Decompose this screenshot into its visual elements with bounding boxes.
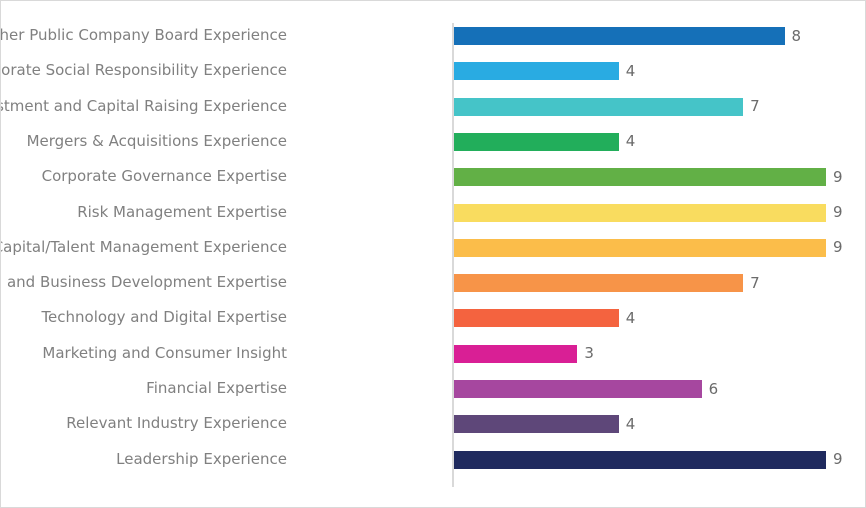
bar-value-label: 4 bbox=[626, 416, 636, 433]
bar-value-label: 4 bbox=[626, 133, 636, 150]
bar-group: 9 bbox=[453, 204, 843, 222]
bar-value-label: 7 bbox=[750, 98, 760, 115]
bar-row: Human Capital/Talent Management Experien… bbox=[1, 239, 866, 257]
plot-area: Other Public Company Board Experience8Co… bbox=[1, 1, 866, 508]
bar-value-label: 8 bbox=[792, 28, 802, 45]
category-label: Corporate Governance Expertise bbox=[0, 168, 287, 185]
category-label: Marketing and Consumer Insight bbox=[0, 345, 287, 362]
bar[interactable] bbox=[453, 133, 619, 151]
bar-row: Investment and Capital Raising Experienc… bbox=[1, 98, 866, 116]
bar[interactable] bbox=[453, 309, 619, 327]
bar-group: 7 bbox=[453, 274, 760, 292]
bar[interactable] bbox=[453, 168, 826, 186]
bar-row: Risk Management Expertise9 bbox=[1, 204, 866, 222]
bar[interactable] bbox=[453, 345, 577, 363]
category-label: Risk Management Expertise bbox=[0, 204, 287, 221]
bar-value-label: 9 bbox=[833, 451, 843, 468]
bar[interactable] bbox=[453, 451, 826, 469]
category-label: Leadership Experience bbox=[0, 451, 287, 468]
category-axis-line bbox=[452, 23, 454, 487]
bar-value-label: 4 bbox=[626, 63, 636, 80]
bar-row: Leadership Experience9 bbox=[1, 451, 866, 469]
category-label: Strategic Growth and Business Developmen… bbox=[0, 274, 287, 291]
bar-group: 9 bbox=[453, 451, 843, 469]
bar[interactable] bbox=[453, 415, 619, 433]
bar-row: Other Public Company Board Experience8 bbox=[1, 27, 866, 45]
bar-row: Corporate Social Responsibility Experien… bbox=[1, 62, 866, 80]
bar-row: Financial Expertise6 bbox=[1, 380, 866, 398]
bar[interactable] bbox=[453, 380, 702, 398]
category-label: Human Capital/Talent Management Experien… bbox=[0, 239, 287, 256]
bar-group: 4 bbox=[453, 62, 635, 80]
category-label: Mergers & Acquisitions Experience bbox=[0, 133, 287, 150]
bar-group: 8 bbox=[453, 27, 801, 45]
bar[interactable] bbox=[453, 27, 785, 45]
bar-group: 4 bbox=[453, 415, 635, 433]
bar-row: Corporate Governance Expertise9 bbox=[1, 168, 866, 186]
bar-group: 6 bbox=[453, 380, 718, 398]
bar-value-label: 9 bbox=[833, 204, 843, 221]
bar[interactable] bbox=[453, 98, 743, 116]
category-label: Technology and Digital Expertise bbox=[0, 309, 287, 326]
bar-group: 9 bbox=[453, 168, 843, 186]
bar-value-label: 3 bbox=[584, 345, 594, 362]
bar[interactable] bbox=[453, 204, 826, 222]
bar-row: Relevant Industry Experience4 bbox=[1, 415, 866, 433]
category-label: Other Public Company Board Experience bbox=[0, 27, 287, 44]
bar[interactable] bbox=[453, 239, 826, 257]
bar-chart-container: Other Public Company Board Experience8Co… bbox=[0, 0, 866, 508]
bar-group: 3 bbox=[453, 345, 594, 363]
category-label: Investment and Capital Raising Experienc… bbox=[0, 98, 287, 115]
bar-row: Strategic Growth and Business Developmen… bbox=[1, 274, 866, 292]
category-label: Financial Expertise bbox=[0, 380, 287, 397]
bar-group: 9 bbox=[453, 239, 843, 257]
bar-value-label: 6 bbox=[709, 381, 719, 398]
bar-value-label: 9 bbox=[833, 239, 843, 256]
bar-value-label: 4 bbox=[626, 310, 636, 327]
bar-value-label: 9 bbox=[833, 169, 843, 186]
bar-group: 7 bbox=[453, 98, 760, 116]
bar-value-label: 7 bbox=[750, 275, 760, 292]
bar-group: 4 bbox=[453, 133, 635, 151]
bar[interactable] bbox=[453, 274, 743, 292]
bar-row: Mergers & Acquisitions Experience4 bbox=[1, 133, 866, 151]
bar-row: Marketing and Consumer Insight3 bbox=[1, 345, 866, 363]
category-label: Relevant Industry Experience bbox=[0, 415, 287, 432]
bar-row: Technology and Digital Expertise4 bbox=[1, 309, 866, 327]
bar-group: 4 bbox=[453, 309, 635, 327]
bar[interactable] bbox=[453, 62, 619, 80]
category-label: Corporate Social Responsibility Experien… bbox=[0, 62, 287, 79]
